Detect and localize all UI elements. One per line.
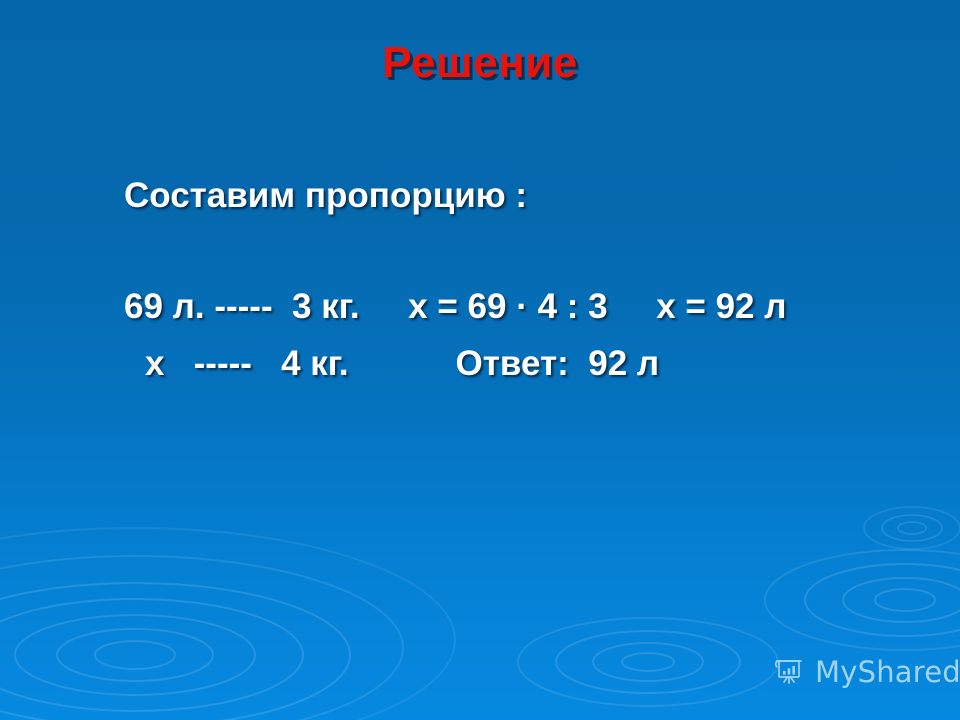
presentation-chart-icon xyxy=(772,655,806,689)
slide-title: Решение xyxy=(0,38,960,88)
proportion-row-1: 69 л. ----- 3 кг. х = 69 · 4 : 3 х = 92 … xyxy=(124,287,786,327)
proportion-row-2: х ----- 4 кг. Ответ: 92 л xyxy=(145,344,659,384)
myshared-watermark: MyShared xyxy=(772,655,960,689)
lead-text: Составим пропорцию : xyxy=(124,176,527,216)
myshared-label: MyShared xyxy=(815,658,960,687)
slide-canvas: Решение Составим пропорцию : 69 л. -----… xyxy=(0,0,960,720)
